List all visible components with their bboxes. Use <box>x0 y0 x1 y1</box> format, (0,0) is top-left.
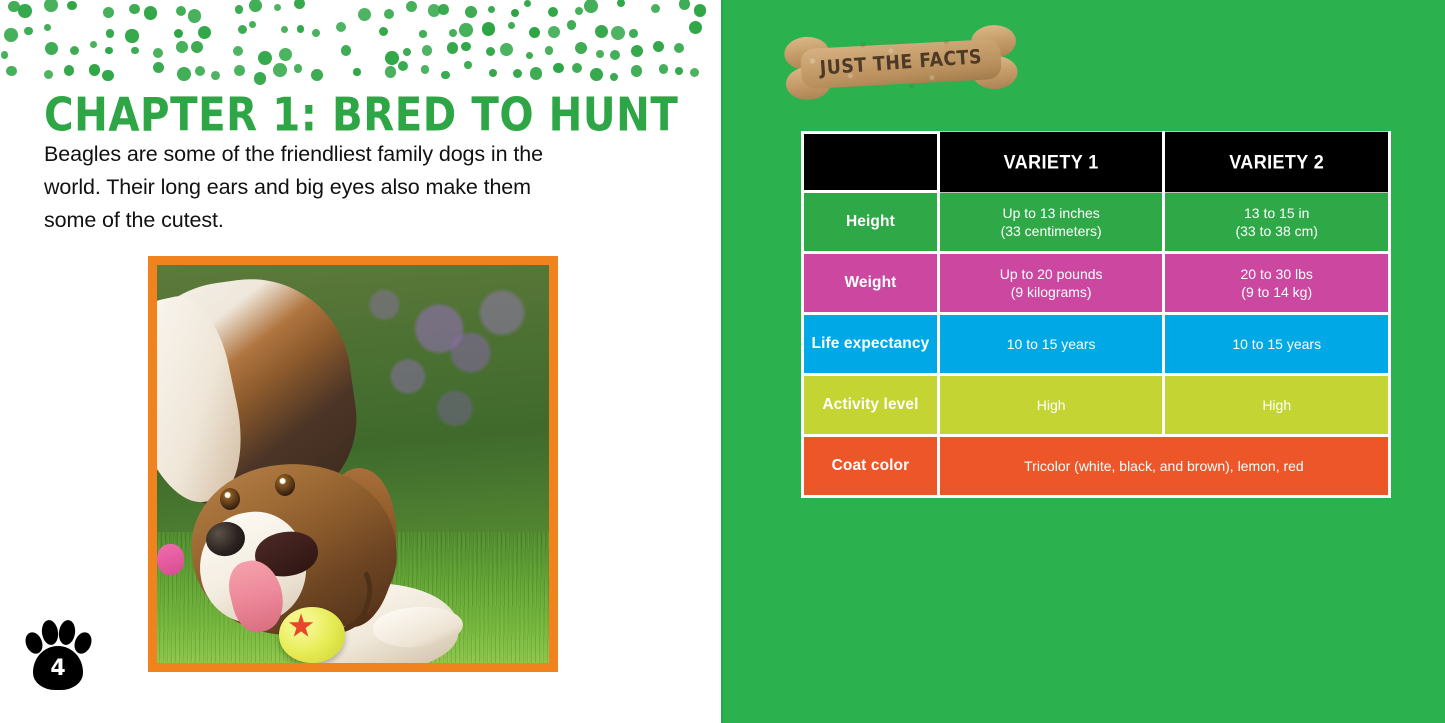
confetti-dot <box>67 1 77 11</box>
confetti-dot <box>610 73 619 82</box>
table-header-blank <box>804 134 937 190</box>
confetti-dot <box>595 25 608 38</box>
confetti-dot <box>353 68 360 75</box>
confetti-dot <box>191 41 203 53</box>
confetti-dot <box>438 4 449 15</box>
confetti-dot <box>488 6 495 13</box>
confetti-dot <box>176 6 186 16</box>
table-row-activity-level: Activity level High High <box>804 376 1388 434</box>
confetti-dot <box>447 42 459 54</box>
confetti-dot <box>651 4 661 14</box>
left-page: CHAPTER 1: BRED TO HUNT Beagles are some… <box>0 0 721 723</box>
confetti-dot <box>629 29 638 38</box>
table-row-life-expectancy: Life expectancy 10 to 15 years 10 to 15 … <box>804 315 1388 373</box>
photo-pink-toy <box>157 544 184 576</box>
cell-height-variety-1: Up to 13 inches(33 centimeters) <box>940 193 1163 251</box>
confetti-dot <box>611 26 625 40</box>
confetti-dot <box>694 4 707 17</box>
confetti-dot <box>188 9 201 22</box>
page-number-badge-left: 4 <box>22 618 94 696</box>
confetti-dot <box>249 0 262 12</box>
confetti-dot <box>545 46 553 54</box>
confetti-dot <box>596 50 604 58</box>
paw-toe-icon <box>40 619 59 646</box>
tennis-ball <box>279 607 346 663</box>
confetti-dot <box>403 48 412 57</box>
confetti-dot <box>659 64 669 74</box>
confetti-dot <box>144 6 158 20</box>
confetti-dot <box>567 20 577 30</box>
confetti-dot <box>464 61 472 69</box>
confetti-dot <box>575 7 583 15</box>
confetti-dot <box>311 69 323 81</box>
table-row-weight: Weight Up to 20 pounds(9 kilograms) 20 t… <box>804 254 1388 312</box>
confetti-dot <box>258 51 272 65</box>
confetti-dot <box>254 72 267 85</box>
cell-life-variety-1: 10 to 15 years <box>940 315 1163 373</box>
confetti-dot <box>590 68 603 81</box>
facts-table: VARIETY 1 VARIETY 2 Height Up to 13 inch… <box>801 131 1391 498</box>
confetti-dot <box>153 62 165 74</box>
confetti-dot <box>4 28 18 42</box>
confetti-dot <box>689 21 702 34</box>
confetti-dot <box>358 8 372 22</box>
confetti-dot <box>379 27 388 36</box>
bone-badge: JUST THE FACTS <box>783 20 1019 108</box>
table-header-variety-1: VARIETY 1 <box>940 132 1163 192</box>
cell-activity-variety-2: High <box>1165 376 1388 434</box>
confetti-dot <box>44 24 51 31</box>
table-row-coat-color: Coat color Tricolor (white, black, and b… <box>804 437 1388 495</box>
confetti-dot <box>103 7 114 18</box>
confetti-dot <box>675 67 683 75</box>
confetti-dot <box>486 47 495 56</box>
page-title: CHAPTER 1: BRED TO HUNT <box>44 88 721 142</box>
table-header-row: VARIETY 1 VARIETY 2 <box>804 134 1388 190</box>
confetti-dot <box>419 30 426 37</box>
table-header-variety-2: VARIETY 2 <box>1165 132 1388 192</box>
confetti-dot <box>610 50 620 60</box>
confetti-dot <box>105 47 112 54</box>
confetti-dot <box>617 0 625 7</box>
confetti-dot <box>64 65 74 75</box>
row-label-weight: Weight <box>804 254 937 312</box>
confetti-dot <box>131 47 138 54</box>
confetti-dot <box>500 43 513 56</box>
row-label-activity-level: Activity level <box>804 376 937 434</box>
confetti-dot <box>249 21 256 28</box>
confetti-dots-decoration <box>0 0 721 86</box>
table-row-height: Height Up to 13 inches(33 centimeters) 1… <box>804 193 1388 251</box>
confetti-dot <box>508 22 515 29</box>
confetti-dot <box>70 46 79 55</box>
confetti-dot <box>421 65 430 74</box>
confetti-dot <box>465 6 477 18</box>
confetti-dot <box>238 25 247 34</box>
confetti-dot <box>90 41 98 49</box>
beagle-photo <box>157 265 549 663</box>
confetti-dot <box>125 29 138 42</box>
confetti-dot <box>575 42 587 54</box>
cell-weight-variety-2: 20 to 30 lbs(9 to 14 kg) <box>1165 254 1388 312</box>
confetti-dot <box>341 45 352 56</box>
confetti-dot <box>336 22 346 32</box>
confetti-dot <box>18 4 32 18</box>
dog-eye-right <box>275 474 295 496</box>
confetti-dot <box>44 0 58 12</box>
confetti-dot <box>530 67 543 80</box>
confetti-dot <box>572 63 582 73</box>
page-number-left: 4 <box>22 658 94 680</box>
facts-table-body: Height Up to 13 inches(33 centimeters) 1… <box>804 193 1388 495</box>
confetti-dot <box>102 70 114 82</box>
confetti-dot <box>235 5 244 14</box>
confetti-dot <box>631 45 643 57</box>
confetti-dot <box>482 22 495 35</box>
confetti-dot <box>385 51 399 65</box>
confetti-dot <box>679 0 691 10</box>
book-spread: CHAPTER 1: BRED TO HUNT Beagles are some… <box>0 0 1445 723</box>
row-label-coat-color: Coat color <box>804 437 937 495</box>
confetti-dot <box>45 42 59 56</box>
confetti-dot <box>553 63 564 74</box>
left-body-paragraph: Beagles are some of the friendliest fami… <box>44 138 574 237</box>
confetti-dot <box>106 29 115 38</box>
confetti-dot <box>6 66 16 76</box>
beagle-photo-frame <box>148 256 558 672</box>
confetti-dot <box>548 26 560 38</box>
confetti-dot <box>312 29 320 37</box>
confetti-dot <box>273 63 287 77</box>
confetti-dot <box>384 9 394 19</box>
cell-activity-variety-1: High <box>940 376 1163 434</box>
confetti-dot <box>294 64 303 73</box>
confetti-dot <box>526 52 533 59</box>
confetti-dot <box>406 1 417 12</box>
confetti-dot <box>1 51 9 59</box>
confetti-dot <box>459 23 473 37</box>
confetti-dot <box>176 41 188 53</box>
confetti-dot <box>548 7 558 17</box>
confetti-dot <box>24 27 33 36</box>
page-gutter-divider <box>721 0 723 723</box>
confetti-dot <box>461 42 470 51</box>
confetti-dot <box>281 26 288 33</box>
confetti-dot <box>513 69 523 79</box>
confetti-dot <box>441 71 449 79</box>
confetti-dot <box>234 65 244 75</box>
confetti-dot <box>674 43 684 53</box>
cell-coat-color-combined: Tricolor (white, black, and brown), lemo… <box>940 437 1388 495</box>
confetti-dot <box>274 4 281 11</box>
confetti-dot <box>449 29 457 37</box>
confetti-dot <box>129 4 140 15</box>
confetti-dot <box>398 61 408 71</box>
row-label-life-expectancy: Life expectancy <box>804 315 937 373</box>
cell-height-variety-2: 13 to 15 in(33 to 38 cm) <box>1165 193 1388 251</box>
row-label-height: Height <box>804 193 937 251</box>
confetti-dot <box>195 66 205 76</box>
confetti-dot <box>294 0 305 9</box>
confetti-dot <box>529 27 540 38</box>
confetti-dot <box>177 67 191 81</box>
confetti-dot <box>198 26 212 40</box>
confetti-dot <box>233 46 243 56</box>
cell-weight-variety-1: Up to 20 pounds(9 kilograms) <box>940 254 1163 312</box>
cell-life-variety-2: 10 to 15 years <box>1165 315 1388 373</box>
confetti-dot <box>279 48 292 61</box>
confetti-dot <box>211 71 220 80</box>
confetti-dot <box>422 45 433 56</box>
confetti-dot <box>653 41 664 52</box>
confetti-dot <box>584 0 598 13</box>
confetti-dot <box>44 70 53 79</box>
confetti-dot <box>385 66 397 78</box>
confetti-dot <box>489 69 497 77</box>
confetti-dot <box>524 0 531 7</box>
confetti-dot <box>89 64 100 75</box>
confetti-dot <box>297 25 305 33</box>
confetti-dot <box>690 68 699 77</box>
confetti-dot <box>174 29 184 39</box>
confetti-dot <box>153 48 164 59</box>
dog-eye-left <box>220 488 240 510</box>
right-page: JUST THE FACTS VARIETY 1 VARIETY 2 Heigh… <box>721 0 1445 723</box>
confetti-dot <box>511 9 519 17</box>
facts-table-head: VARIETY 1 VARIETY 2 <box>804 134 1388 190</box>
confetti-dot <box>631 65 643 77</box>
